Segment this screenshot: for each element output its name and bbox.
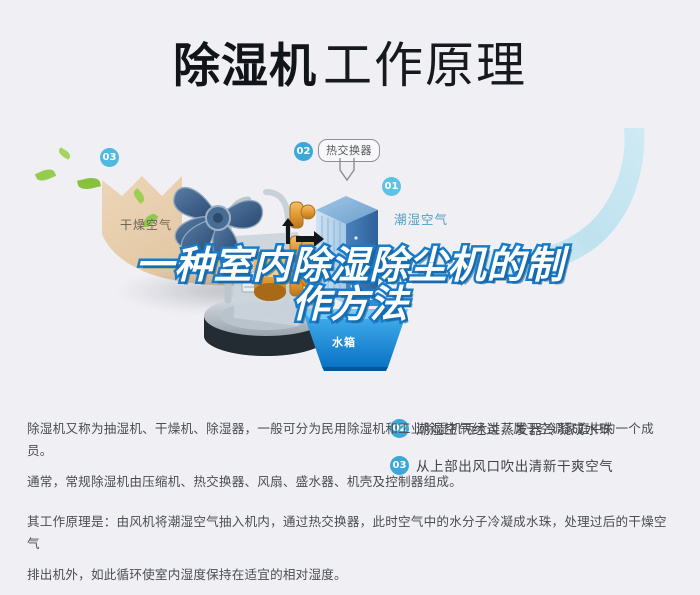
dry-air-label: 干燥空气 bbox=[120, 216, 172, 233]
body-paragraph-4: 排出机外，如此循环使室内湿度保持在适宜的相对湿度。 bbox=[27, 564, 677, 586]
page-title-strong: 除湿机 bbox=[173, 39, 317, 94]
body-paragraph-2: 通常，常规除湿机由压缩机、热交换器、风扇、盛水器、机壳及控制器组成。 bbox=[27, 471, 677, 493]
diagram-badge-02: 02 bbox=[294, 142, 313, 161]
page-title-light: 工作原理 bbox=[323, 39, 527, 93]
body-paragraph-3: 其工作原理是：由风机将潮湿空气抽入机内，通过热交换器，此时空气中的水分子冷凝成水… bbox=[27, 511, 677, 555]
principle-diagram: 水箱 干燥空气 潮湿空气 03 02 01 热交换器 02 潮湿空气经过蒸发器冷… bbox=[0, 120, 700, 410]
callout-pointer-icon bbox=[338, 158, 356, 182]
leaf-icon bbox=[35, 167, 56, 184]
diagram-badge-03: 03 bbox=[100, 148, 119, 167]
water-tank-label: 水箱 bbox=[332, 334, 356, 350]
paragraph-spacer bbox=[27, 502, 677, 511]
body-copy: 除湿机又称为抽湿机、干燥机、除湿器，一般可分为民用除湿机和工业除湿机两大类，属于… bbox=[27, 418, 677, 595]
body-paragraph-1: 除湿机又称为抽湿机、干燥机、除湿器，一般可分为民用除湿机和工业除湿机两大类，属于… bbox=[27, 418, 677, 462]
humid-air-label: 潮湿空气 bbox=[394, 209, 448, 228]
leaf-icon bbox=[57, 147, 72, 160]
dehumidifier-infographic-page: { "header": { "title_strong": "除湿机", "ti… bbox=[0, 0, 700, 566]
page-title: 除湿机工作原理 bbox=[0, 26, 700, 97]
diagram-badge-01: 01 bbox=[382, 177, 401, 196]
